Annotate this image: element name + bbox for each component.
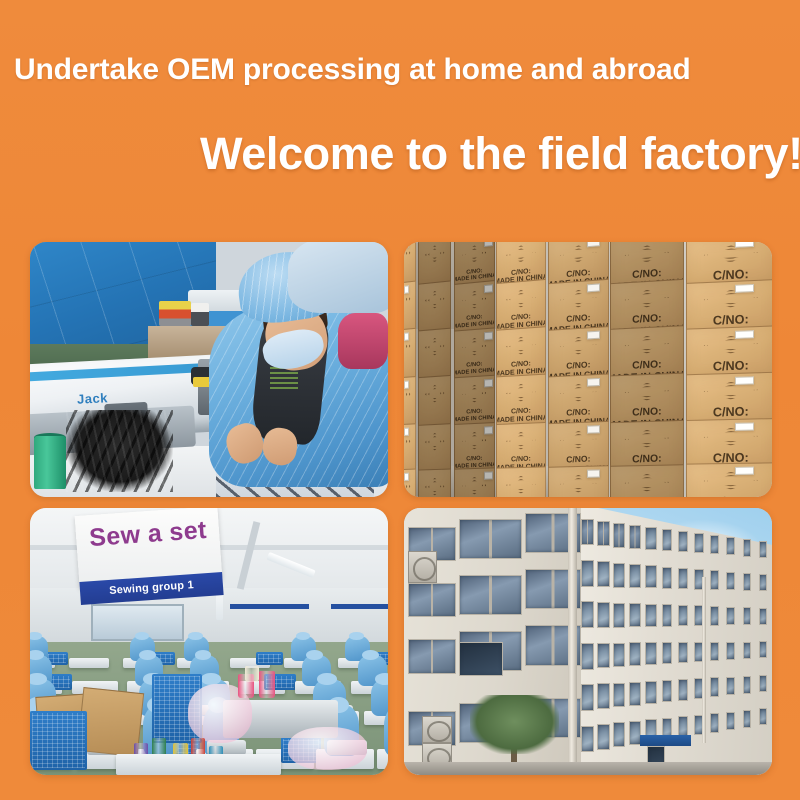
carton-diamond-mark [625, 382, 669, 401]
overhead-rack [230, 604, 309, 609]
worker-hairnet [139, 650, 156, 660]
background-bottles-2 [191, 303, 209, 326]
carton-diamond-mark [462, 244, 486, 263]
facade-window [613, 563, 625, 588]
worker-hairnet [317, 673, 336, 685]
photo-sewing-workshop: Sew a set Sewing group 1 [30, 508, 388, 775]
carton-box: C/NO:MADE IN CHINA [454, 327, 495, 381]
sewing-workshop-scene: Sew a set Sewing group 1 [30, 508, 388, 775]
carton-marking: C/NO:MADE IN CHINA [454, 408, 495, 423]
carton-box: C/NO:MADE IN CHINA [496, 466, 546, 497]
background-bottles [159, 301, 191, 327]
facade-window [726, 572, 735, 591]
carton-diamond-mark [506, 244, 536, 264]
worker-hairnet [362, 650, 379, 660]
air-conditioner [408, 551, 437, 583]
carton-shipping-label [735, 284, 754, 293]
facade-window [759, 708, 767, 725]
facade-window [759, 574, 767, 591]
carton-box [404, 469, 417, 497]
worker-hairnet [188, 632, 203, 640]
carton-shipping-label [735, 330, 754, 339]
facade-window [710, 606, 719, 626]
facade-window [629, 603, 641, 627]
carton-shipping-label [484, 379, 493, 387]
carton-shipping-label [484, 331, 493, 339]
carton-box: C/NO:MADE IN CHINA [548, 373, 609, 427]
facade-window [710, 713, 719, 733]
photo-sewing-operator: Jack [30, 242, 388, 497]
facade-window [710, 535, 719, 555]
facade-window [629, 642, 641, 666]
facade-window [581, 560, 594, 587]
carton-diamond-mark [425, 337, 444, 356]
facade-window [408, 583, 456, 618]
facade-window [743, 710, 751, 728]
carton-box: C/NO:MADE IN CHINA [548, 465, 609, 497]
facade-window [581, 726, 594, 753]
facade-window [629, 682, 641, 706]
carton-diamond-mark [425, 477, 444, 495]
carton-shipping-label [404, 333, 410, 341]
carton-diamond-mark [506, 431, 536, 450]
carton-diamond-mark [625, 335, 669, 355]
carton-box [404, 328, 417, 381]
facade-window [726, 712, 735, 731]
facade-window [629, 564, 641, 588]
carton-box [418, 280, 451, 334]
entrance-awning [640, 735, 692, 746]
carton-shipping-label [484, 284, 493, 293]
worker-hairnet [135, 632, 150, 640]
facade-window [694, 533, 704, 553]
carton-box: C/NO:MADE IN CHINA [548, 326, 609, 381]
carton-shipping-label [587, 425, 600, 433]
carton-diamond-mark [625, 288, 669, 308]
carton-diamond-mark [462, 476, 486, 494]
facade-window [743, 642, 751, 660]
carton-shipping-label [587, 284, 600, 293]
carton-shipping-label [404, 473, 410, 481]
facade-window-open [459, 642, 503, 677]
carton-shipping-label [587, 378, 600, 386]
facade-window [645, 604, 656, 627]
facade-window [581, 601, 594, 628]
carton-shipping-label [587, 242, 600, 247]
facade-window [678, 679, 688, 700]
facade-window [613, 683, 625, 708]
carton-diamond-mark [462, 337, 486, 357]
facade-window [710, 677, 719, 697]
work-bench [69, 658, 109, 668]
facade-window [678, 605, 688, 626]
carton-shipping-label [484, 471, 493, 479]
facade-window [726, 677, 735, 696]
facade-window [678, 568, 688, 589]
facade-window [597, 643, 610, 669]
carton-shipping-label [404, 242, 410, 248]
facade-window [581, 684, 594, 711]
background-worker [288, 242, 388, 313]
facade-window [459, 519, 522, 559]
air-conditioner-2 [422, 716, 451, 743]
facade-window [743, 607, 751, 625]
carton-box [418, 375, 451, 428]
carton-marking: C/NO:MADE IN CHINA [686, 496, 772, 497]
carton-shipping-label [404, 380, 410, 388]
blue-crate [256, 652, 283, 665]
carton-box: C/NO:MADE IN CHINA [454, 375, 495, 429]
carton-box: C/NO:MADE IN CHINA [686, 372, 772, 426]
photo-export-cartons: C/NO:MADE IN CHINAC/NO:MADE IN CHINAC/NO… [404, 242, 772, 497]
facade-window [597, 724, 610, 750]
green-thread-cone [34, 436, 66, 490]
carton-box [404, 280, 417, 334]
facade-pipe [702, 577, 706, 743]
foreground-crate [30, 711, 87, 770]
carton-box: C/NO:MADE IN CHINA [454, 467, 495, 497]
carton-shipping-label [484, 242, 493, 247]
carton-box: C/NO:MADE IN CHINA [454, 280, 495, 335]
carton-box [418, 468, 451, 497]
facade-window [629, 525, 641, 549]
carton-box: C/NO:MADE IN CHINA [610, 464, 684, 497]
carton-shipping-label [735, 423, 754, 431]
worker-hairnet [349, 632, 364, 640]
headline-main: Welcome to the field factory! [200, 128, 800, 180]
carton-shipping-label [587, 469, 600, 477]
carton-diamond-mark [462, 432, 486, 451]
facade-window [662, 680, 673, 702]
garment-bundle [288, 727, 367, 770]
carton-diamond-mark [462, 384, 486, 403]
facade-window [613, 643, 625, 668]
facade-window [613, 603, 625, 628]
thread-cone [245, 666, 259, 682]
facade-window [662, 529, 673, 551]
street-ground [404, 762, 772, 775]
facade-window [597, 683, 610, 709]
carton-box [418, 328, 451, 382]
carton-shipping-label [484, 426, 493, 434]
facade-window [597, 561, 610, 587]
carton-box: C/NO:MADE IN CHINA [686, 462, 772, 497]
building-windows [404, 508, 772, 775]
facade-window [645, 681, 656, 704]
drain-pipe [568, 508, 577, 775]
carton-diamond-mark [704, 428, 758, 447]
facade-window [662, 604, 673, 626]
carton-diamond-mark [506, 475, 536, 493]
carton-diamond-mark [625, 429, 669, 448]
overhead-sign-subtitle: Sewing group 1 [109, 580, 194, 598]
carton-box [404, 376, 417, 429]
facade-window [759, 641, 767, 658]
carton-box: C/NO:MADE IN CHINA [496, 374, 546, 428]
carton-diamond-mark [506, 383, 536, 402]
worker-hairnet [306, 650, 323, 660]
facade-window [597, 521, 610, 547]
facade-window [581, 519, 594, 546]
facade-window [759, 541, 767, 558]
facade-window [581, 643, 594, 670]
carton-shipping-label [587, 331, 600, 340]
facade-window [678, 531, 688, 552]
thread-cone [259, 671, 275, 698]
promo-banner: Undertake OEM processing at home and abr… [0, 0, 800, 800]
factory-building-scene [404, 508, 772, 775]
carton-diamond-mark [462, 289, 486, 309]
machine-brand-label: Jack [76, 390, 108, 407]
photo-factory-building [404, 508, 772, 775]
facade-window [645, 642, 656, 665]
cartons-scene: C/NO:MADE IN CHINAC/NO:MADE IN CHINAC/NO… [404, 242, 772, 497]
facade-window [759, 675, 767, 692]
carton-shipping-label [404, 428, 410, 436]
headline-top: Undertake OEM processing at home and abr… [14, 53, 691, 87]
facade-window [726, 607, 735, 626]
carton-diamond-mark [625, 473, 669, 492]
pink-garment [338, 313, 388, 369]
carton-diamond-mark [425, 432, 444, 451]
carton-box: C/NO:MADE IN CHINA [610, 373, 684, 427]
facade-window [726, 642, 735, 661]
facade-window [710, 642, 719, 662]
carton-diamond-mark [425, 385, 444, 404]
carton-shipping-label [735, 376, 754, 384]
facade-window [726, 537, 735, 556]
black-elastic-pile [66, 410, 173, 492]
facade-window [662, 642, 673, 664]
carton-marking: C/NO:MADE IN CHINA [454, 360, 495, 376]
tree-canopy [470, 695, 558, 754]
facade-window [678, 642, 688, 663]
facade-window [597, 602, 610, 628]
foreground-table [116, 754, 281, 775]
facade-window [743, 573, 751, 591]
carton-diamond-mark [625, 244, 669, 264]
carton-diamond-mark [506, 289, 536, 309]
carton-diamond-mark [506, 336, 536, 356]
facade-window [459, 575, 522, 615]
carton-diamond-mark [425, 244, 444, 263]
facade-window [759, 608, 767, 625]
facade-window [710, 570, 719, 590]
carton-shipping-label [404, 285, 410, 293]
facade-window [408, 639, 456, 674]
facade-window [645, 565, 656, 588]
overhead-rack-2 [331, 604, 388, 609]
facade-window [613, 523, 625, 548]
facade-window [743, 676, 751, 694]
facade-window [645, 527, 656, 550]
carton-shipping-label [735, 467, 754, 475]
carton-diamond-mark [425, 290, 444, 310]
carton-stack: C/NO:MADE IN CHINAC/NO:MADE IN CHINAC/NO… [404, 242, 772, 497]
facade-window [743, 539, 751, 557]
carton-shipping-label [735, 242, 754, 248]
sewing-operator-scene: Jack [30, 242, 388, 497]
facade-window [662, 567, 673, 589]
facade-window [613, 722, 625, 747]
